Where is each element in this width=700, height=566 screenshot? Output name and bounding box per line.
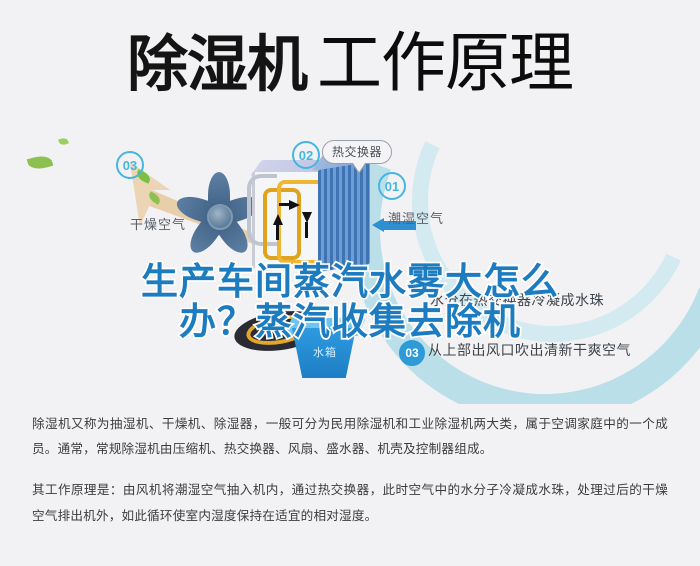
leaf-icon <box>27 153 54 172</box>
flow-arrow-up-stem <box>276 224 279 240</box>
step-two-text: 水分在热交换器冷凝成水珠 <box>430 290 604 310</box>
step-three-text: 从上部出风口吹出清新干爽空气 <box>428 340 631 360</box>
moist-air-label: 潮湿空气 <box>388 208 444 227</box>
heat-exchanger-fins-icon <box>318 162 370 272</box>
water-tank-label: 水箱 <box>288 344 362 360</box>
badge-step-03-list: 03 <box>399 340 425 366</box>
badge-step-02: 02 <box>292 141 320 169</box>
page-header: 除湿机 工作原理 <box>0 0 700 126</box>
dehumidifier-diagram: 水箱 03 02 01 03 热交换器 干燥空气 潮湿空气 水分在热交换器冷凝成… <box>0 126 700 404</box>
article-paragraph-1: 除湿机又称为抽湿机、干燥机、除湿器，一般可分为民用除湿机和工业除湿机两大类，属于… <box>32 412 668 462</box>
flow-arrow-right-stem <box>279 203 293 206</box>
compressor-coil-box-icon <box>252 172 325 268</box>
badge-step-03: 03 <box>116 151 144 179</box>
fan-hub-icon <box>207 204 233 230</box>
article-body: 除湿机又称为抽湿机、干燥机、除湿器，一般可分为民用除湿机和工业除湿机两大类，属于… <box>0 412 700 529</box>
badge-step-01: 01 <box>378 172 406 200</box>
page-title: 除湿机 工作原理 <box>127 31 573 96</box>
machine-body <box>252 160 380 278</box>
page-title-part2: 工作原理 <box>317 31 573 96</box>
page-title-part1: 除湿机 <box>127 34 307 95</box>
flow-arrow-down-stem <box>305 222 308 238</box>
heat-exchanger-callout: 热交换器 <box>322 140 392 164</box>
leaf-icon <box>58 137 69 147</box>
article-paragraph-2: 其工作原理是：由风机将潮湿空气抽入机内，通过热交换器，此时空气中的水分子冷凝成水… <box>32 478 668 528</box>
dry-air-label: 干燥空气 <box>130 214 186 233</box>
water-tank-icon: 水箱 <box>288 318 362 382</box>
